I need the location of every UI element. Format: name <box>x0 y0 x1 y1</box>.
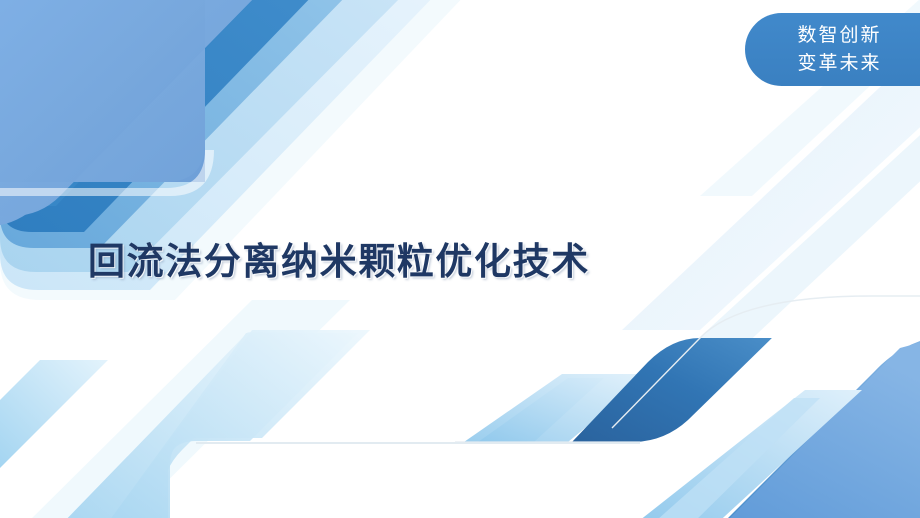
slide-title-text: 回流法分离纳米颗粒优化技术 <box>88 242 590 282</box>
br-stripe-light <box>630 390 862 518</box>
bl-stripe-small <box>0 360 108 478</box>
br-navy-shape <box>572 338 772 442</box>
tagline-badge: 数智创新 变革未来 <box>745 13 920 86</box>
br-stripe-highlight <box>648 398 820 518</box>
tl-main-block-wedge <box>0 0 262 216</box>
br-sliver-light <box>478 378 604 442</box>
page-title: 回流法分离纳米颗粒优化技术 <box>88 234 728 290</box>
slide-canvas: 回流法分离纳米颗粒优化技术 数智创新 变革未来 <box>0 0 920 518</box>
tl-main-block-corner <box>0 0 205 182</box>
br-outline-curve <box>612 296 920 428</box>
bl-hairline <box>196 442 640 444</box>
bl-stripe-arrow <box>58 332 300 518</box>
br-blue-big-body <box>720 340 920 518</box>
bl-stripe-pale <box>22 300 350 518</box>
bl-big-light <box>104 330 370 518</box>
tl-main-block <box>0 0 250 226</box>
tl-band-dark-2 <box>0 0 262 206</box>
tagline-line-2: 变革未来 <box>797 50 881 77</box>
tl-band-mid <box>0 0 352 248</box>
tagline-line-1: 数智创新 <box>797 22 881 49</box>
br-white-gap <box>676 338 800 438</box>
br-wedge-light <box>464 374 650 442</box>
tl-block-shadow-sliver <box>0 150 214 196</box>
tl-main-block-body <box>0 0 205 182</box>
tl-band-light <box>0 0 408 272</box>
tl-band-dark <box>0 0 318 232</box>
bl-flat-band <box>104 333 358 518</box>
br-blue-big <box>718 338 920 518</box>
